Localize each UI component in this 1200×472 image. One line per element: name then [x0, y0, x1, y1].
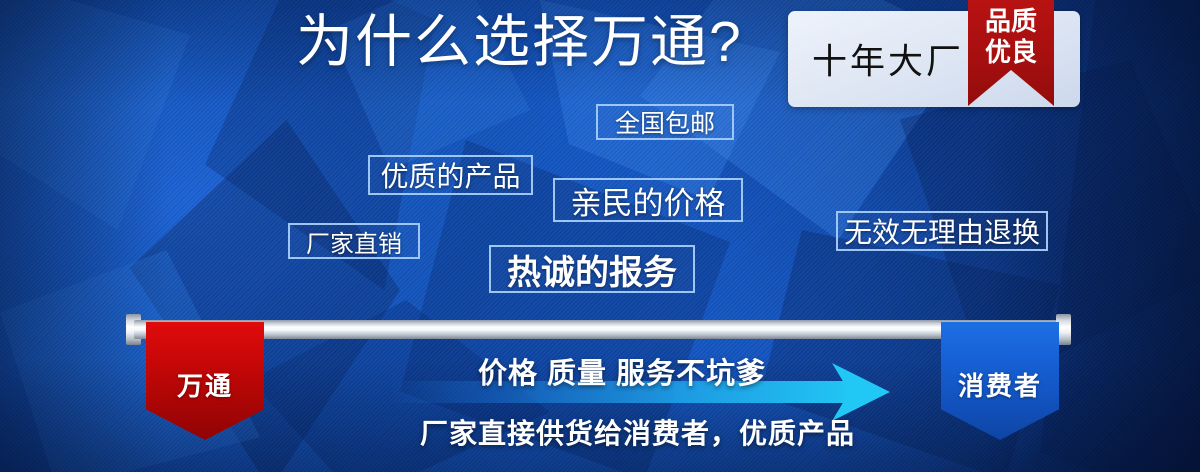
quality-ribbon-line1: 品质: [968, 6, 1054, 37]
promo-banner: 为什么选择万通? 十年大厂 品质 优良 全国包邮 优质的产品 亲民的价格 厂家直…: [0, 0, 1200, 472]
flow-caption-primary: 价格 质量 服务不坑爹: [478, 350, 766, 392]
quality-ribbon-line2: 优良: [968, 37, 1054, 68]
page-title: 为什么选择万通?: [296, 14, 743, 71]
quality-ribbon-text: 品质 优良: [968, 6, 1054, 68]
feature-tag-factory-direct: 厂家直销: [288, 223, 420, 259]
flow-source-label: 万通: [177, 366, 233, 403]
flow-caption-secondary: 厂家直接供货给消费者，优质产品: [420, 412, 855, 452]
flow-target-label: 消费者: [958, 366, 1042, 403]
experience-badge-label: 十年大厂: [812, 34, 964, 85]
feature-tag-quality-product: 优质的产品: [368, 155, 533, 195]
feature-tag-free-shipping: 全国包邮: [596, 104, 734, 140]
feature-tag-free-returns: 无效无理由退换: [836, 211, 1048, 251]
horizontal-pole: [134, 320, 1064, 339]
feature-tag-warm-service: 热诚的报务: [489, 245, 695, 293]
feature-tag-fair-price: 亲民的价格: [553, 178, 743, 222]
